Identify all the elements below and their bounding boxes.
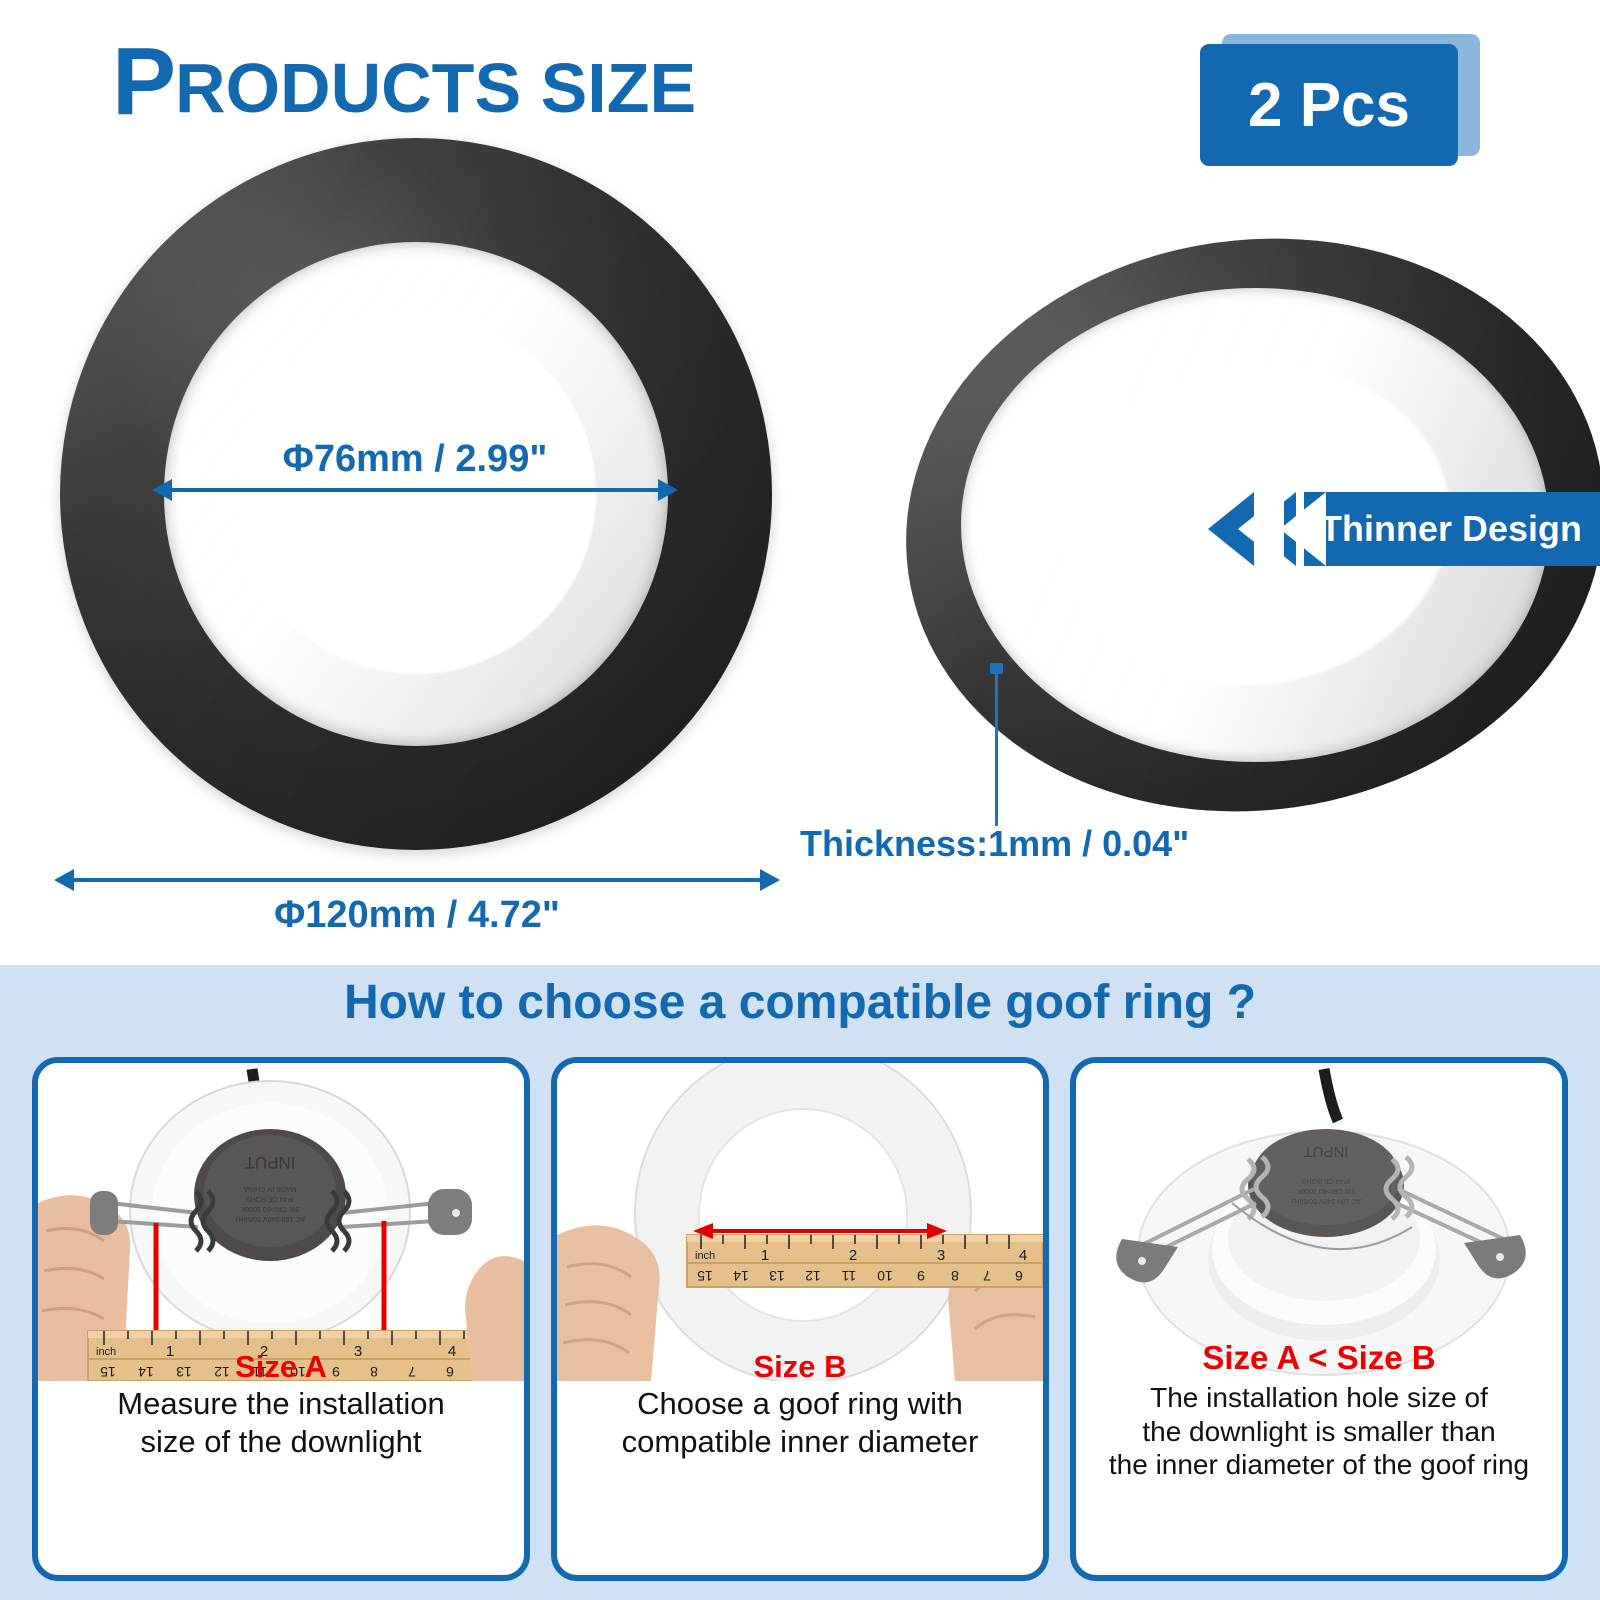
thickness-callout: Thickness:1mm / 0.04" <box>800 655 1240 845</box>
svg-text:5W CRI>80 3000K: 5W CRI>80 3000K <box>240 1205 299 1212</box>
arrow-left-icon <box>54 869 74 891</box>
panel-1-caption-line-2: size of the downlight <box>44 1423 518 1461</box>
panel-1-photo: INPUT AC 100-240V 50/60Hz 5W CRI>80 3000… <box>38 1063 524 1381</box>
svg-text:inch: inch <box>695 1250 715 1262</box>
page-title: PRODUCTS SIZE <box>112 34 696 130</box>
how-to-title: How to choose a compatible goof ring ? <box>0 975 1600 1030</box>
svg-text:2: 2 <box>849 1247 857 1264</box>
panel-3-photo: INPUT AC 100-240V 50/60Hz 5W CRI>80 3000… <box>1076 1063 1562 1381</box>
how-to-panel-3: INPUT AC 100-240V 50/60Hz 5W CRI>80 3000… <box>1070 1057 1568 1581</box>
how-to-choose-section: How to choose a compatible goof ring ? <box>0 965 1600 1600</box>
panel-2-caption-line-2: compatible inner diameter <box>563 1423 1037 1461</box>
arrow-right-icon <box>760 869 780 891</box>
svg-text:7: 7 <box>983 1268 991 1284</box>
outer-diameter-dimension: Φ120mm / 4.72" <box>62 868 772 944</box>
panel-2-caption: Choose a goof ring with compatible inner… <box>557 1385 1043 1461</box>
svg-text:INPUT: INPUT <box>1304 1143 1349 1160</box>
page-title-rest: RODUCTS SIZE <box>175 49 696 127</box>
inner-diameter-dimension: Φ76mm / 2.99" <box>160 438 670 508</box>
panel-1-caption: Measure the installation size of the dow… <box>38 1385 524 1461</box>
how-to-panel-2: inch 1 2 3 4 15 14 13 12 11 10 9 8 <box>551 1057 1049 1581</box>
svg-text:IP44 CE ROHS: IP44 CE ROHS <box>246 1195 295 1202</box>
inner-diameter-line <box>168 488 662 492</box>
svg-text:12: 12 <box>805 1268 821 1284</box>
downlight-measure-illustration: INPUT AC 100-240V 50/60Hz 5W CRI>80 3000… <box>38 1063 524 1381</box>
goof-ring-measure-illustration: inch 1 2 3 4 15 14 13 12 11 10 9 8 <box>557 1063 1043 1381</box>
svg-text:8: 8 <box>951 1268 959 1284</box>
panel-2-size-tag: Size B <box>557 1349 1043 1385</box>
svg-text:11: 11 <box>842 1268 857 1284</box>
arrow-right-icon <box>658 479 678 501</box>
svg-text:14: 14 <box>733 1268 749 1284</box>
outer-diameter-line <box>70 878 764 882</box>
svg-text:MADE IN CHINA: MADE IN CHINA <box>243 1185 296 1192</box>
how-to-panel-1: INPUT AC 100-240V 50/60Hz 5W CRI>80 3000… <box>32 1057 530 1581</box>
svg-text:6: 6 <box>1015 1268 1023 1284</box>
svg-text:5W CRI>80 3000K: 5W CRI>80 3000K <box>1296 1187 1355 1194</box>
svg-text:INPUT: INPUT <box>245 1153 296 1172</box>
panel-2-caption-line-1: Choose a goof ring with <box>563 1385 1037 1423</box>
svg-text:4: 4 <box>1019 1247 1027 1264</box>
quantity-badge-card: 2 Pcs <box>1200 44 1458 166</box>
chevron-gap <box>1238 492 1284 566</box>
product-size-section: PRODUCTS SIZE 2 Pcs Φ76mm / 2.99" Φ120mm… <box>0 0 1600 965</box>
quantity-badge: 2 Pcs <box>1200 34 1480 162</box>
inner-diameter-label: Φ76mm / 2.99" <box>160 438 670 481</box>
panel-1-caption-line-1: Measure the installation <box>44 1385 518 1423</box>
svg-text:1: 1 <box>761 1247 769 1264</box>
panel-3-caption-line-3: the inner diameter of the goof ring <box>1082 1448 1556 1482</box>
svg-text:IP44 CE ROHS: IP44 CE ROHS <box>1302 1177 1351 1184</box>
panel-3-caption-line-2: the downlight is smaller than <box>1082 1415 1556 1449</box>
panel-3-size-tag: Size A < Size B <box>1076 1339 1562 1377</box>
quantity-badge-label: 2 Pcs <box>1248 70 1410 141</box>
svg-text:10: 10 <box>877 1268 893 1284</box>
thinner-design-banner: Thinner Design <box>1208 492 1600 566</box>
svg-text:9: 9 <box>917 1268 925 1284</box>
panel-3-caption-line-1: The installation hole size of <box>1082 1381 1556 1415</box>
arrow-left-icon <box>152 479 172 501</box>
thinner-design-label: Thinner Design <box>1320 492 1582 566</box>
svg-text:3: 3 <box>937 1247 945 1264</box>
outer-diameter-label: Φ120mm / 4.72" <box>62 894 772 937</box>
svg-text:AC 100-240V 50/60Hz: AC 100-240V 50/60Hz <box>1290 1197 1361 1204</box>
downlight-in-goof-ring-illustration: INPUT AC 100-240V 50/60Hz 5W CRI>80 3000… <box>1076 1063 1562 1381</box>
page-title-initial: P <box>112 28 175 135</box>
svg-text:AC 100-240V 50/60Hz: AC 100-240V 50/60Hz <box>234 1215 305 1222</box>
svg-text:15: 15 <box>697 1268 713 1284</box>
panel-1-size-tag: Size A <box>38 1349 524 1385</box>
svg-text:13: 13 <box>769 1268 785 1284</box>
how-to-panels: INPUT AC 100-240V 50/60Hz 5W CRI>80 3000… <box>0 1057 1600 1587</box>
panel-3-caption: The installation hole size of the downli… <box>1076 1381 1562 1482</box>
thickness-label: Thickness:1mm / 0.04" <box>800 823 1240 865</box>
callout-leader-line <box>995 668 998 826</box>
panel-2-photo: inch 1 2 3 4 15 14 13 12 11 10 9 8 <box>557 1063 1043 1381</box>
